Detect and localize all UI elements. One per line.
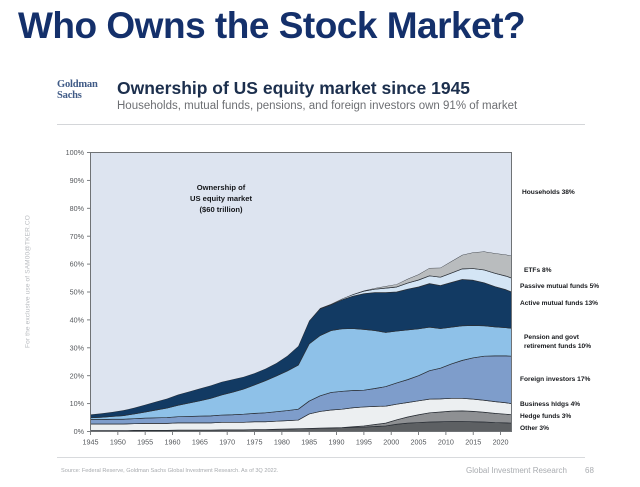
category-labels: Other 3%Hedge funds 3%Business hldgs 4%F…	[520, 189, 599, 432]
category-label-etfs: ETFs 8%	[524, 267, 552, 274]
y-tick-label: 50%	[70, 288, 85, 297]
x-tick-label: 2000	[383, 438, 399, 447]
category-label-households: Households 38%	[522, 189, 575, 196]
category-label-pension-and-govt-retirement-funds-line-1: Pension and govt	[524, 334, 580, 341]
x-tick-labels: 1945195019551960196519701975198019851990…	[83, 432, 509, 447]
y-tick-label: 70%	[70, 232, 85, 241]
x-tick-label: 1980	[274, 438, 290, 447]
y-tick-label: 0%	[74, 427, 85, 436]
y-tick-labels: 0%10%20%30%40%50%60%70%80%90%100%	[66, 148, 91, 436]
category-label-pension-and-govt-retirement-funds-line-2: retirement funds 10%	[524, 343, 591, 350]
category-label-hedge-funds: Hedge funds 3%	[520, 413, 571, 420]
area-series-group	[91, 153, 512, 432]
x-tick-label: 1955	[137, 438, 153, 447]
y-tick-label: 90%	[70, 176, 85, 185]
x-tick-label: 1990	[329, 438, 345, 447]
x-tick-label: 2015	[465, 438, 481, 447]
y-tick-label: 60%	[70, 260, 85, 269]
category-label-business-hldgs: Business hldgs 4%	[520, 401, 580, 408]
x-tick-label: 1950	[110, 438, 126, 447]
category-label-active-mutual-funds: Active mutual funds 13%	[520, 300, 598, 307]
category-label-foreign-investors: Foreign investors 17%	[520, 376, 590, 383]
category-label-passive-mutual-funds: Passive mutual funds 5%	[520, 283, 599, 290]
x-tick-label: 1945	[83, 438, 99, 447]
chart-svg: 0%10%20%30%40%50%60%70%80%90%100% 194519…	[0, 0, 640, 487]
stacked-area-chart: 0%10%20%30%40%50%60%70%80%90%100% 194519…	[0, 0, 640, 487]
x-tick-label: 1960	[165, 438, 181, 447]
annotation-line-1: Ownership of	[197, 183, 246, 192]
y-tick-label: 100%	[66, 148, 85, 157]
x-tick-label: 1975	[247, 438, 263, 447]
x-tick-label: 1965	[192, 438, 208, 447]
y-tick-label: 80%	[70, 204, 85, 213]
y-tick-label: 10%	[70, 399, 85, 408]
category-label-other: Other 3%	[520, 425, 549, 432]
x-tick-label: 2020	[493, 438, 509, 447]
y-tick-label: 30%	[70, 343, 85, 352]
y-tick-label: 20%	[70, 371, 85, 380]
slide-root: Who Owns the Stock Market? Goldman Sachs…	[0, 0, 640, 487]
x-tick-label: 1995	[356, 438, 372, 447]
y-tick-label: 40%	[70, 316, 85, 325]
x-tick-label: 1970	[219, 438, 235, 447]
annotation-line-3: ($60 trillion)	[199, 205, 243, 214]
x-tick-label: 2010	[438, 438, 454, 447]
x-tick-label: 1985	[301, 438, 317, 447]
annotation-line-2: US equity market	[190, 194, 253, 203]
x-tick-label: 2005	[411, 438, 427, 447]
